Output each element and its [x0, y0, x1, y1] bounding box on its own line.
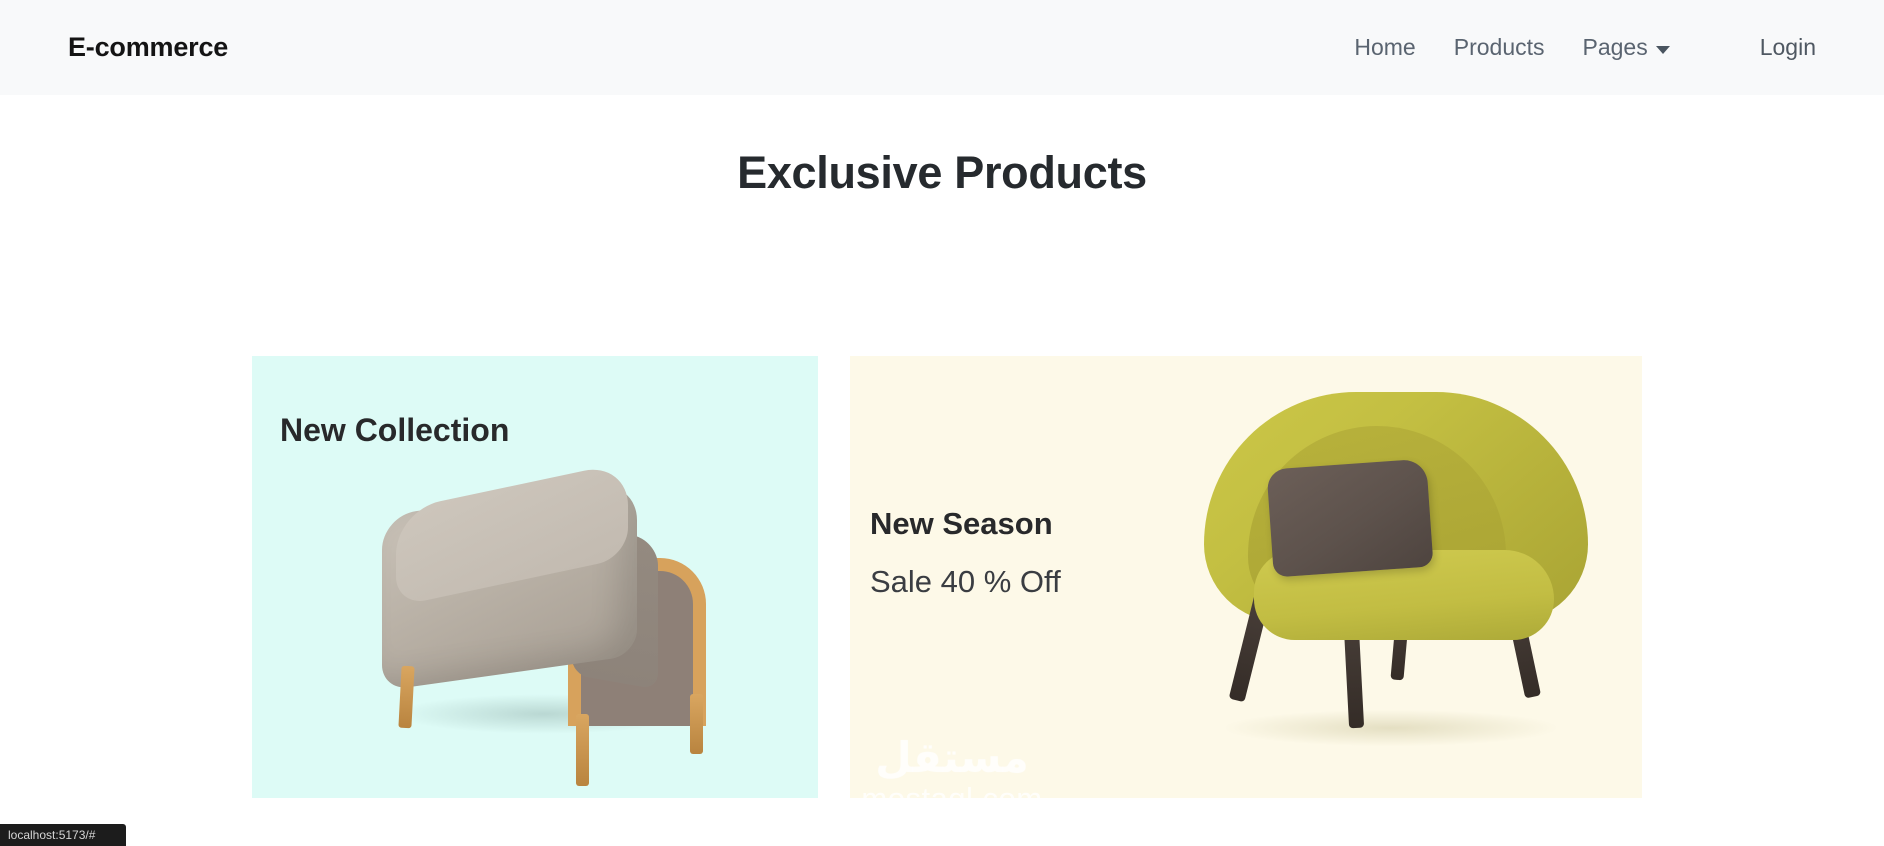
nav-item-label: Pages — [1583, 34, 1648, 61]
ottoman-leg — [576, 714, 589, 786]
nav-item-products[interactable]: Products — [1435, 34, 1564, 61]
product-banner-row: New Collection New Season Sale 40 % Off — [252, 356, 1642, 798]
nav-item-label: Home — [1354, 34, 1415, 61]
nav-item-login[interactable]: Login — [1741, 34, 1816, 61]
banner-heading: New Collection — [280, 412, 509, 449]
ottoman-product-image — [372, 476, 732, 756]
ottoman-leg — [690, 694, 703, 754]
armchair-shadow — [1226, 710, 1556, 746]
armchair-cushion — [1266, 459, 1433, 578]
main-navigation: Home Products Pages Login — [1335, 34, 1816, 61]
nav-item-pages[interactable]: Pages — [1564, 34, 1689, 61]
armchair-product-image — [1196, 392, 1596, 764]
page-title: Exclusive Products — [0, 147, 1884, 199]
banner-heading: New Season — [870, 506, 1053, 542]
nav-item-home[interactable]: Home — [1335, 34, 1434, 61]
banner-card-new-collection[interactable]: New Collection — [252, 356, 818, 798]
banner-subheading: Sale 40 % Off — [870, 564, 1061, 600]
chevron-down-icon — [1656, 46, 1670, 54]
nav-item-label: Login — [1760, 34, 1816, 61]
brand-logo[interactable]: E-commerce — [68, 32, 228, 63]
nav-item-label: Products — [1454, 34, 1545, 61]
browser-status-bar: localhost:5173/# — [0, 824, 126, 846]
banner-card-new-season[interactable]: New Season Sale 40 % Off — [850, 356, 1642, 798]
site-header: E-commerce Home Products Pages Login — [0, 0, 1884, 95]
